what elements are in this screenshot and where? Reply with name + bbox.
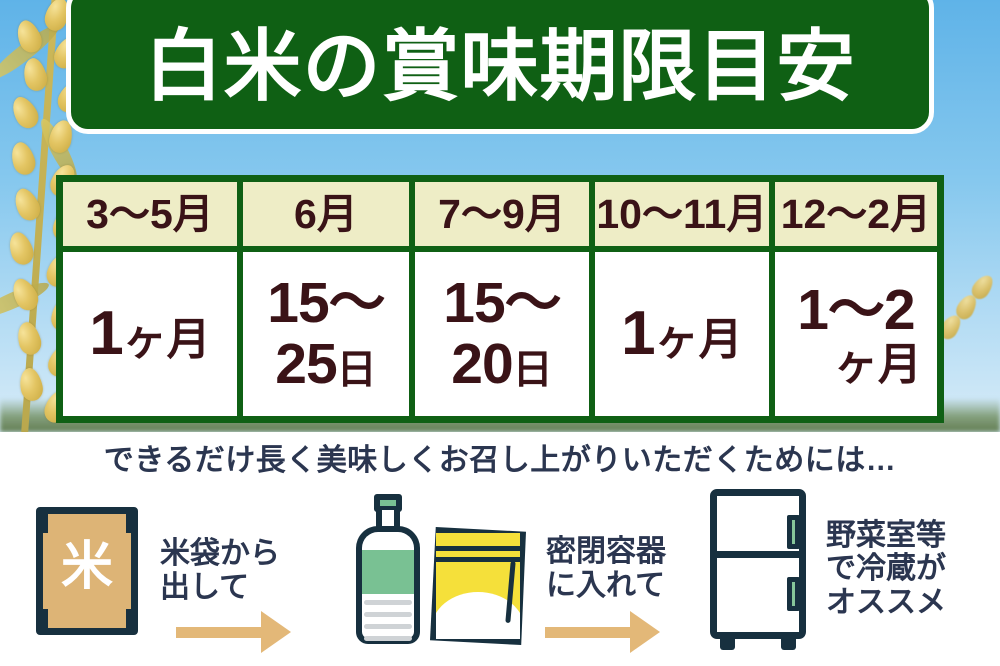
- value-unit: 日: [513, 348, 553, 392]
- step-refrigerate: 野菜室等 で冷蔵が オススメ: [706, 489, 946, 649]
- table-value-cell: 1ヶ月: [60, 249, 240, 419]
- value-group: 1〜2 ヶ月: [775, 282, 937, 387]
- zip-pouch-icon: [430, 527, 526, 645]
- arrow-right-icon-1: [176, 611, 291, 653]
- table-value-cell: 1ヶ月: [592, 249, 772, 419]
- table-value-row: 1ヶ月 15〜 25日 15〜 20日 1ヶ月: [60, 249, 940, 419]
- value-number-line2: 25: [275, 332, 336, 396]
- page-title: 白米の賞味期限目安: [144, 15, 855, 105]
- rice-kanji-mark: 米: [28, 541, 146, 593]
- table-header-cell: 7〜9月: [412, 179, 592, 249]
- table-value-cell: 1〜2 ヶ月: [772, 249, 940, 419]
- title-banner: 白米の賞味期限目安: [66, 0, 934, 134]
- arrow-right-icon-2: [545, 611, 660, 653]
- value-number-line1: 15〜: [443, 275, 560, 332]
- step-label-line1: 密閉容器: [546, 535, 666, 569]
- value-unit: 日: [337, 348, 377, 392]
- step-label-line3: オススメ: [826, 586, 946, 620]
- step-label-line1: 野菜室等: [826, 519, 946, 553]
- step-label-line2: 出して: [160, 571, 280, 605]
- value-unit: ヶ月: [655, 315, 743, 364]
- lead-sentence: できるだけ長く美味しくお召し上がりいただくためには…: [0, 435, 1000, 479]
- value-unit: ヶ月: [123, 315, 211, 364]
- plastic-bottle-icon: [352, 494, 424, 644]
- value-number: 1: [621, 299, 654, 368]
- value-group: 15〜 20日: [415, 275, 589, 393]
- table-header-row: 3〜5月 6月 7〜9月 10〜11月 12〜2月: [60, 179, 940, 249]
- value-number-line1: 15〜: [267, 275, 384, 332]
- step-label-line2: で冷蔵が: [826, 552, 946, 586]
- refrigerator-icon: [706, 489, 810, 649]
- infographic-root: 白米の賞味期限目安 3〜5月 6月 7〜9月 10〜11月 12〜2月 1ヶ月 …: [0, 0, 1000, 666]
- value-group: 1ヶ月: [63, 303, 237, 365]
- value-number-line2: 20: [451, 332, 512, 396]
- value-unit: ヶ月: [790, 343, 922, 387]
- value-number: 1: [89, 299, 122, 368]
- value-group: 15〜 25日: [243, 275, 409, 393]
- step-label-line2: に入れて: [546, 569, 666, 603]
- value-group: 1ヶ月: [595, 303, 769, 365]
- table-value-cell: 15〜 20日: [412, 249, 592, 419]
- value-number-line1: 1〜2: [797, 282, 914, 339]
- table-value-cell: 15〜 25日: [240, 249, 412, 419]
- storage-steps: 米 米袋から 出して: [0, 483, 1000, 666]
- table-header-cell: 6月: [240, 179, 412, 249]
- table-header-cell: 10〜11月: [592, 179, 772, 249]
- rice-bag-icon: 米: [28, 501, 146, 641]
- step-label-line1: 米袋から: [160, 537, 280, 571]
- table-header-cell: 12〜2月: [772, 179, 940, 249]
- shelf-life-table: 3〜5月 6月 7〜9月 10〜11月 12〜2月 1ヶ月 15〜 25日 15…: [56, 175, 944, 423]
- table-header-cell: 3〜5月: [60, 179, 240, 249]
